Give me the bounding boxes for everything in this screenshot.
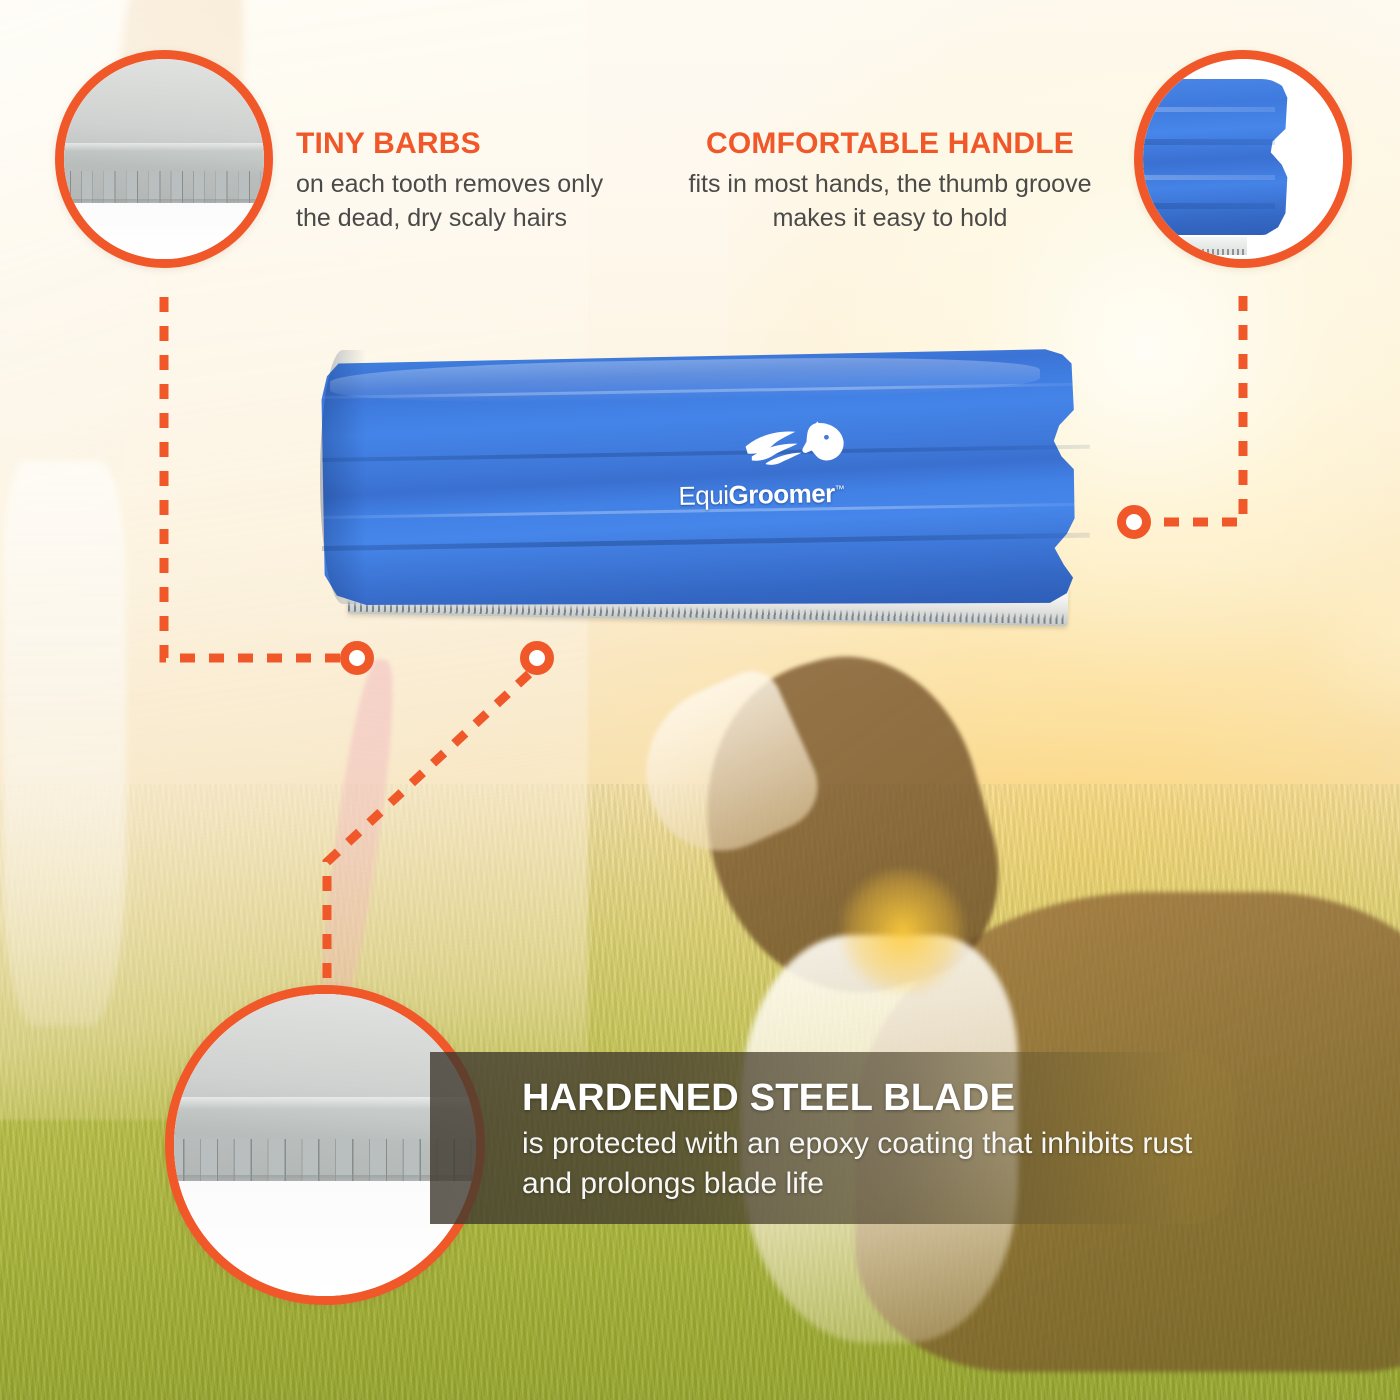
callout-image-tiny-barbs <box>55 50 273 268</box>
callout-text-comfortable-handle: COMFORTABLE HANDLE fits in most hands, t… <box>660 124 1120 235</box>
callout-panel-hardened-steel-blade: HARDENED STEEL BLADE is protected with a… <box>430 1052 1235 1224</box>
callout-image-comfortable-handle <box>1134 50 1352 268</box>
callout-title-hardened-steel-blade: HARDENED STEEL BLADE <box>522 1074 1205 1122</box>
callout-body-tiny-barbs: on each tooth removes only the dead, dry… <box>296 167 626 235</box>
brand-logo-groomer: Groomer <box>728 478 835 510</box>
brand-logo: EquiGroomer™ <box>677 424 889 516</box>
product-handle: EquiGroomer™ <box>300 330 1100 620</box>
brand-logo-trademark: ™ <box>835 484 845 495</box>
callout-title-tiny-barbs: TINY BARBS <box>296 124 626 164</box>
callout-title-comfortable-handle: COMFORTABLE HANDLE <box>660 124 1120 164</box>
closeup-handle-groove-1 <box>1134 107 1275 112</box>
closeup-handle-groove-4 <box>1134 203 1275 209</box>
blade-teeth-closeup <box>64 59 264 259</box>
brand-logo-text: EquiGroomer™ <box>678 477 889 512</box>
closeup-handle-blade-teeth <box>1134 249 1247 255</box>
closeup-handle-groove-2 <box>1134 139 1275 145</box>
callout-body-hardened-steel-blade: is protected with an epoxy coating that … <box>522 1124 1205 1204</box>
horse-head-with-mane-icon <box>743 419 862 469</box>
product-equigroomer: EquiGroomer™ <box>300 330 1130 670</box>
callout-panel-inner: HARDENED STEEL BLADE is protected with a… <box>522 1074 1205 1204</box>
closeup-handle-body <box>1134 79 1291 235</box>
closeup-white-backdrop <box>55 203 273 259</box>
handle-end-thumb-groove-closeup <box>1143 59 1343 259</box>
closeup-handle-groove-3 <box>1134 175 1275 180</box>
brand-logo-equi: Equi <box>678 480 729 511</box>
closeup-steel-band <box>55 143 273 151</box>
callout-body-comfortable-handle: fits in most hands, the thumb groove mak… <box>660 167 1120 235</box>
callout-text-tiny-barbs: TINY BARBS on each tooth removes only th… <box>296 124 626 235</box>
